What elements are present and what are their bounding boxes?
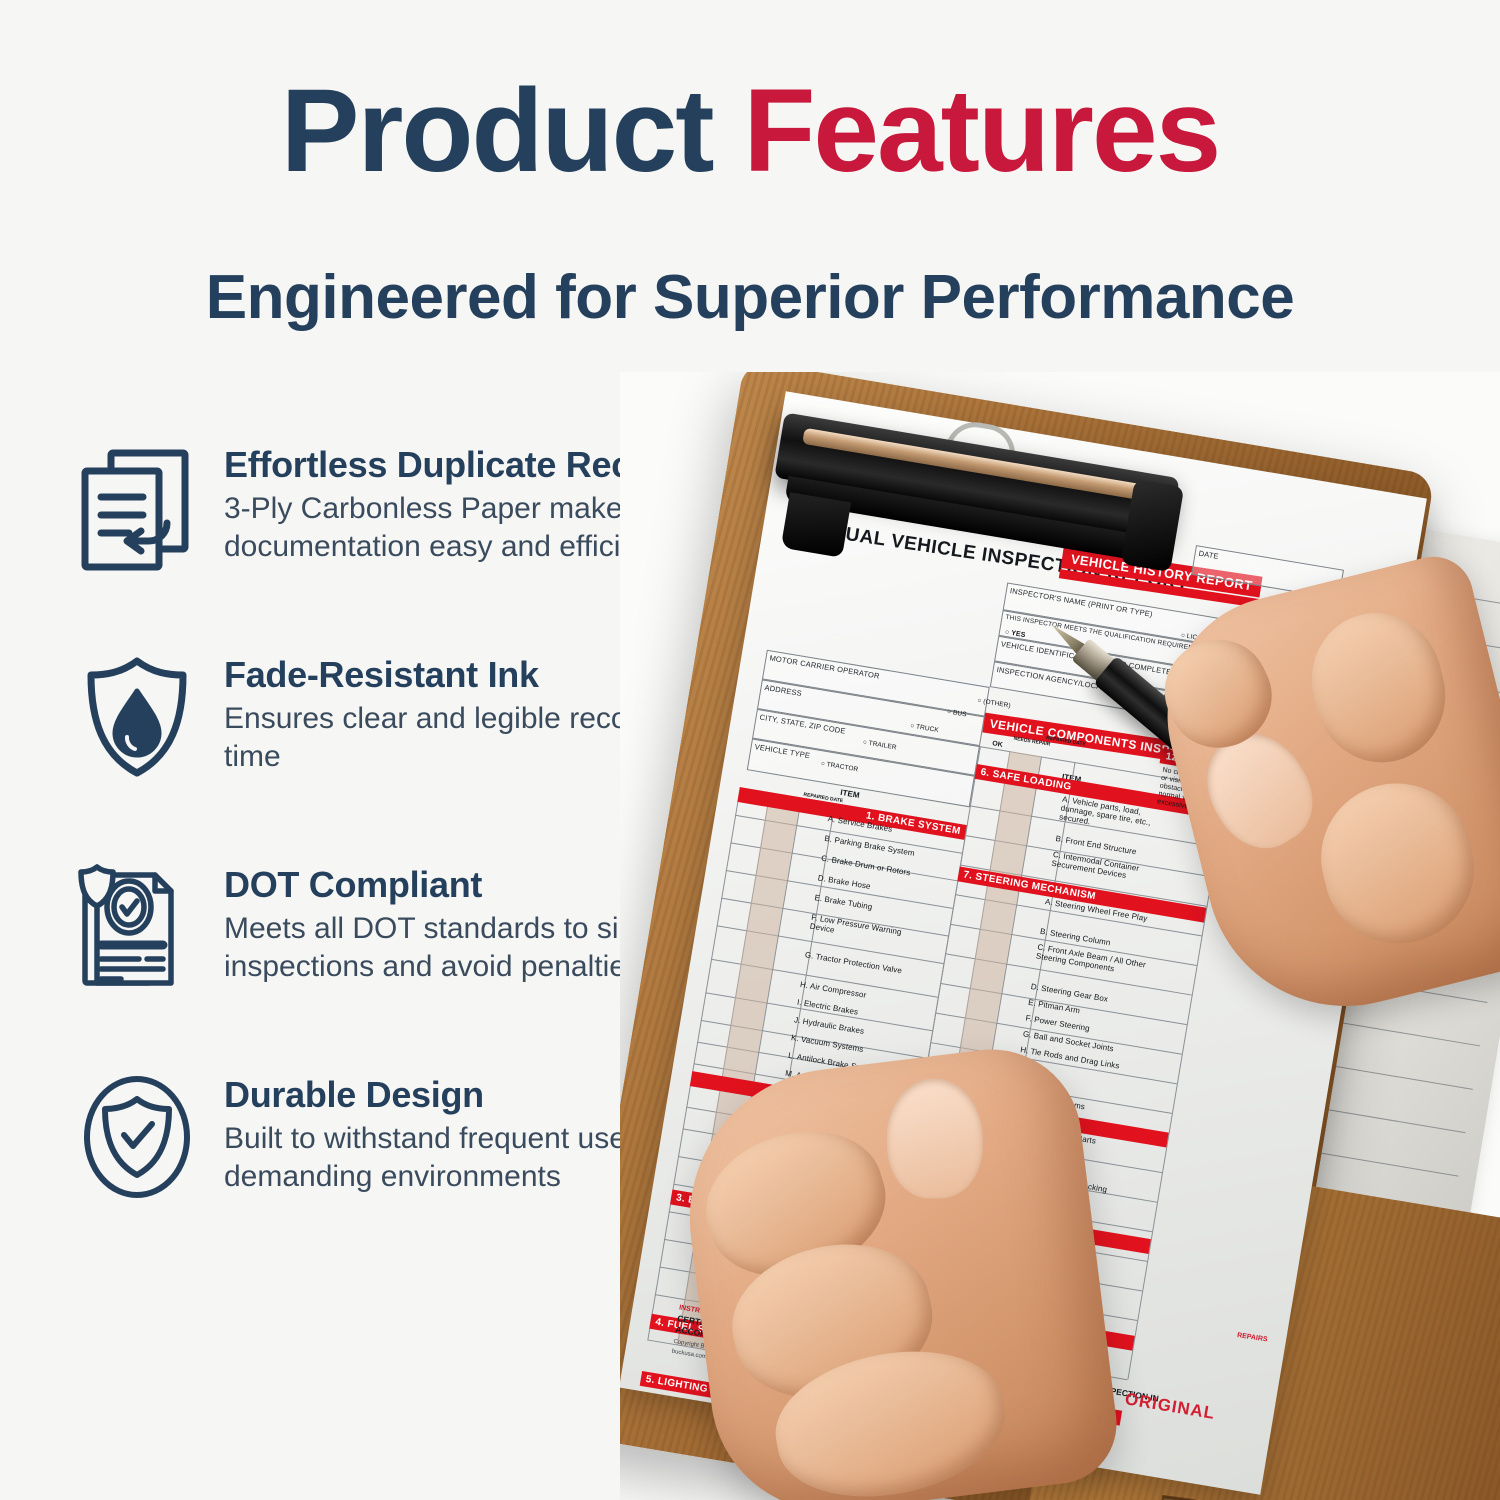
shield-check-circle-icon: [62, 1062, 212, 1212]
title-word-features: Features: [743, 65, 1219, 197]
duplicate-documents-icon: [62, 432, 212, 582]
page-title: Product Features: [0, 72, 1500, 190]
shield-ink-drop-icon: [62, 642, 212, 792]
hand-holding-clipboard: [673, 1039, 1124, 1500]
knuckle: [1305, 768, 1489, 960]
knuckle: [1297, 599, 1459, 776]
clip-foot: [781, 492, 851, 557]
thumb-nail: [886, 1078, 984, 1200]
product-features-page: Product Features Engineered for Superior…: [0, 0, 1500, 1500]
title-word-product: Product: [281, 65, 744, 197]
page-subtitle: Engineered for Superior Performance: [0, 262, 1500, 333]
product-photo: BUCK U.S. ANNUAL VEHICLE INSPECTION REPO…: [620, 372, 1500, 1500]
repairs-note: REPAIRS: [1237, 1332, 1268, 1343]
document-check-shield-icon: [62, 852, 212, 1002]
